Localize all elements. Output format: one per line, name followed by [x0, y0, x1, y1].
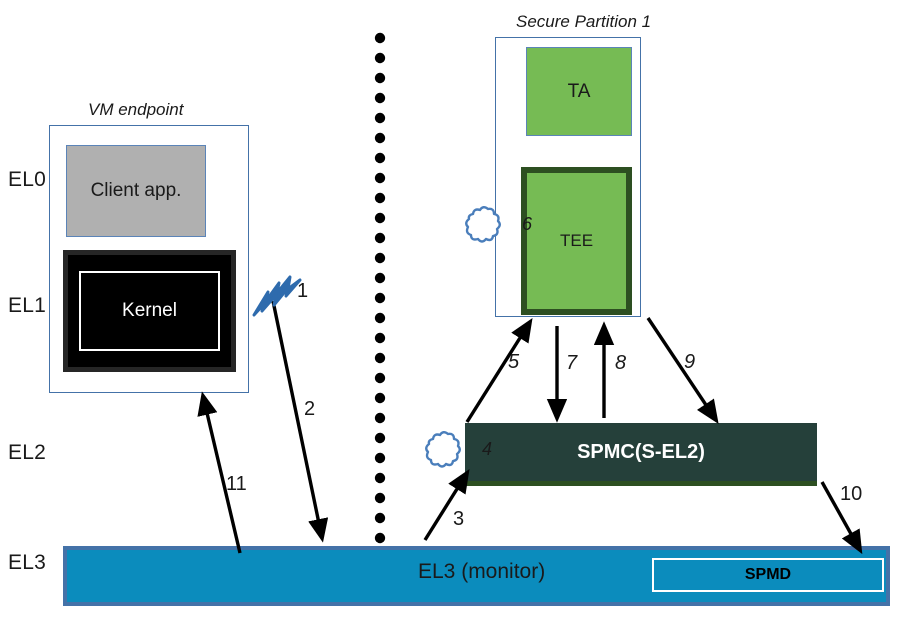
arrow-step-9: [648, 318, 716, 420]
step-number-2: 2: [304, 398, 315, 421]
step-number-10: 10: [840, 483, 862, 506]
step-number-9: 9: [684, 351, 695, 374]
arrow-step-5: [467, 322, 530, 422]
step-number-3: 3: [453, 508, 464, 531]
diagram-canvas: EL0 EL1 EL2 EL3 VM endpoint Client app. …: [0, 0, 899, 625]
cloud-icon: [461, 203, 505, 247]
step-number-8: 8: [615, 352, 626, 375]
step-cloud-6: 6: [461, 203, 505, 247]
step-cloud-4: 4: [421, 428, 465, 472]
step-number-1: 1: [297, 280, 308, 303]
step-number-5: 5: [508, 351, 519, 374]
step-number-11: 11: [226, 473, 247, 496]
step-number-7: 7: [566, 352, 577, 375]
arrow-layer: [0, 0, 899, 625]
lightning-bolt-icon: [254, 277, 300, 315]
cloud-icon: [421, 428, 465, 472]
